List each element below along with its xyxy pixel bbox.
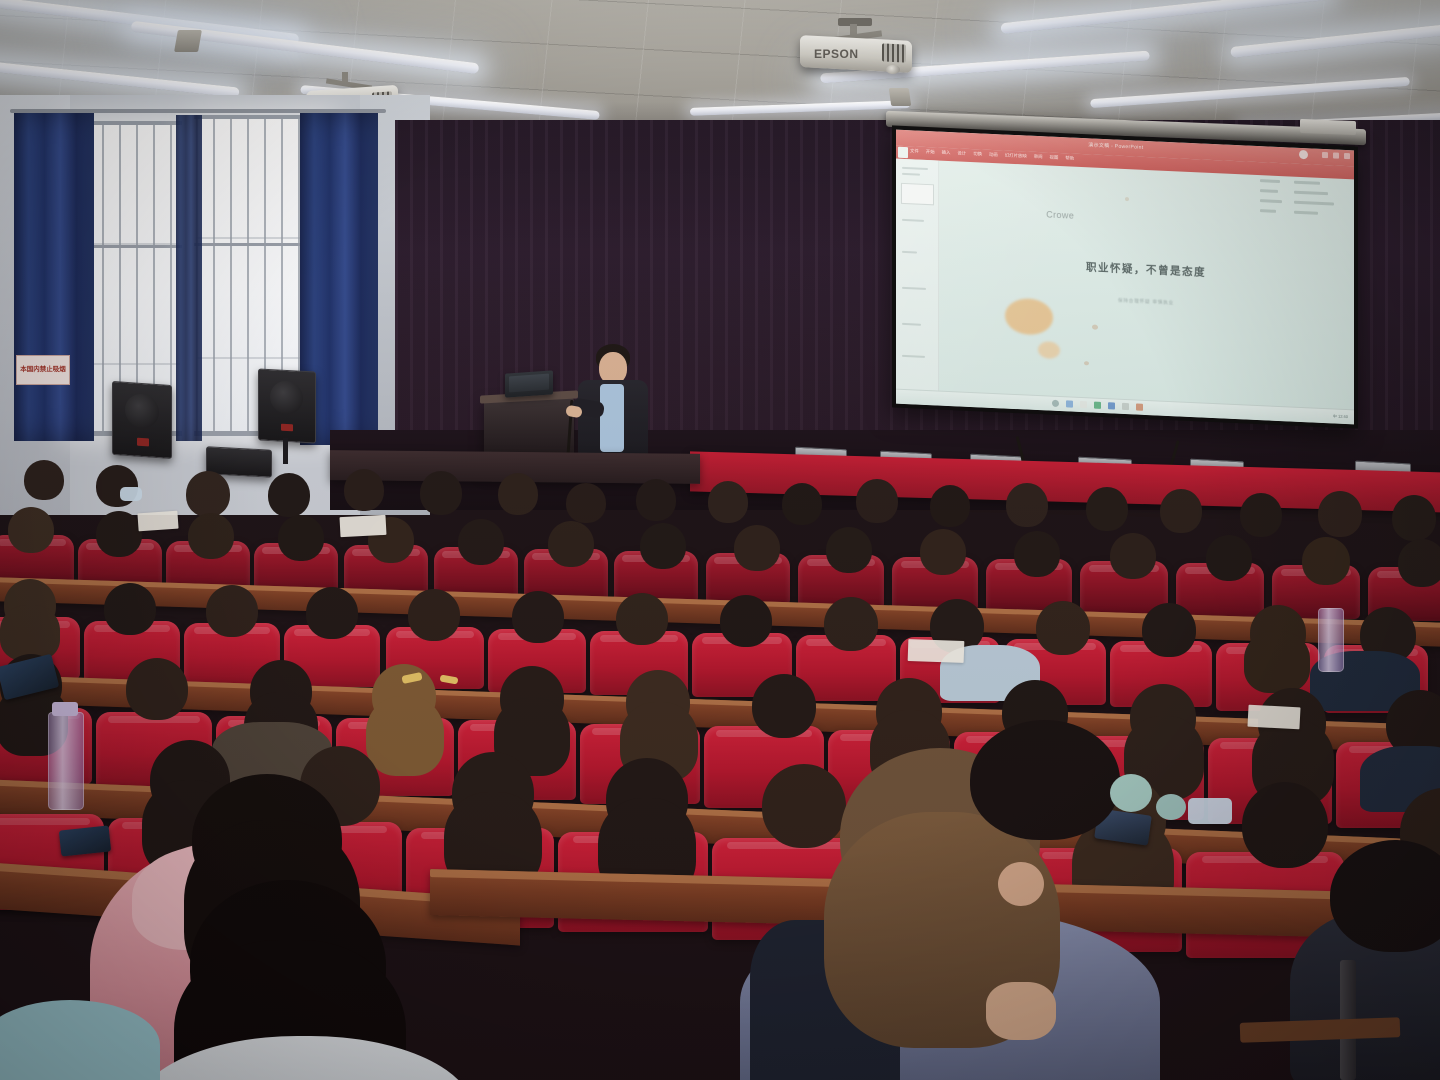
pane-line xyxy=(1260,199,1282,203)
person-head xyxy=(104,583,156,635)
person-head xyxy=(408,589,460,641)
water-bottle[interactable] xyxy=(1318,608,1344,672)
person-head xyxy=(1142,603,1196,657)
projection-screen: 演示文稿 - PowerPoint 文件 开始 插入 设计 切换 动画 幻灯片放… xyxy=(892,125,1358,428)
pane-line xyxy=(902,323,921,326)
ppt-tab-4[interactable]: 切换 xyxy=(973,151,982,157)
pane-line xyxy=(1294,211,1318,215)
foreground-person-right-edge xyxy=(1290,840,1440,1080)
slide-subtext: 保持合理怀疑 审慎执业 xyxy=(1118,298,1174,307)
ceiling-projector-epson: EPSON xyxy=(790,18,920,88)
person-head xyxy=(920,529,966,575)
person-head xyxy=(826,527,872,573)
notebook-paper xyxy=(340,515,387,537)
person-head xyxy=(640,523,686,569)
person-head xyxy=(96,511,142,557)
person-head xyxy=(1330,840,1440,952)
excel-icon[interactable] xyxy=(1094,402,1101,409)
person-head xyxy=(24,460,64,500)
person-head xyxy=(734,525,780,571)
wall-notice-sign: 本国内禁止吸烟 xyxy=(16,355,70,385)
taskbar-icon-group[interactable] xyxy=(1052,400,1143,411)
person-head xyxy=(616,593,668,645)
person-head xyxy=(306,587,358,639)
person-head xyxy=(720,595,772,647)
presenter-shirt xyxy=(600,384,624,452)
notebook-paper xyxy=(1247,705,1300,730)
curtain-rod xyxy=(10,109,386,113)
person-head xyxy=(970,720,1120,840)
slide-thumbnail[interactable] xyxy=(901,183,934,205)
person-head xyxy=(1014,531,1060,577)
explorer-icon[interactable] xyxy=(1080,401,1087,408)
ppt-tab-1[interactable]: 开始 xyxy=(926,149,935,155)
speaker-driver xyxy=(125,393,159,429)
pane-line xyxy=(902,287,926,290)
ppt-tab-9[interactable]: 帮助 xyxy=(1065,155,1074,161)
slide-decorative-dot xyxy=(1125,197,1129,201)
ppt-tab-8[interactable]: 视图 xyxy=(1050,155,1059,161)
pane-line xyxy=(902,355,925,358)
projector-brand-label: EPSON xyxy=(814,47,859,61)
bottle-cap xyxy=(52,702,78,716)
speaker-badge xyxy=(137,438,149,447)
speaker-driver xyxy=(270,380,303,415)
screen-roller-brand-cap xyxy=(1300,119,1356,135)
slide-decorative-blob xyxy=(1038,341,1060,359)
ppt-tab-3[interactable]: 设计 xyxy=(957,150,966,156)
foreground-person-right-back xyxy=(950,720,1210,920)
person-head xyxy=(188,513,234,559)
window-curtain-left xyxy=(14,111,94,441)
ppt-slide-thumbnail-pane[interactable] xyxy=(896,159,939,392)
lecture-hall-photo: EPSON 本国内禁 xyxy=(0,0,1440,1080)
person-head xyxy=(1036,601,1090,655)
pane-line xyxy=(902,251,917,254)
person-head xyxy=(206,585,258,637)
ppt-tab-5[interactable]: 动画 xyxy=(989,152,998,158)
presentation-laptop[interactable] xyxy=(505,370,553,397)
projector-exhaust-vent xyxy=(882,43,906,62)
notebook-paper xyxy=(137,511,178,532)
speaker-badge xyxy=(281,424,293,432)
minimize-icon[interactable] xyxy=(1322,152,1328,158)
hair-clip xyxy=(440,674,459,684)
ppt-tab-7[interactable]: 审阅 xyxy=(1034,154,1043,160)
person-head xyxy=(752,674,816,738)
ppt-account-avatar[interactable] xyxy=(1299,150,1308,159)
pane-line xyxy=(902,219,924,222)
app-icon[interactable] xyxy=(1122,403,1129,410)
notebook-paper xyxy=(908,639,965,663)
powerpoint-window[interactable]: 演示文稿 - PowerPoint 文件 开始 插入 设计 切换 动画 幻灯片放… xyxy=(896,130,1354,425)
ppt-file-tab[interactable] xyxy=(898,147,908,158)
foreground-person-front-left xyxy=(130,880,490,1080)
person-head xyxy=(512,591,564,643)
pane-line xyxy=(1260,179,1280,183)
slide-heading: 职业怀疑，不曾是态度 xyxy=(1086,260,1206,280)
person-head xyxy=(1110,533,1156,579)
slide-decorative-dot xyxy=(1092,325,1098,330)
person-hand xyxy=(986,982,1056,1040)
maximize-icon[interactable] xyxy=(1333,152,1339,158)
person-head xyxy=(458,519,504,565)
pane-line xyxy=(1294,191,1328,196)
close-icon[interactable] xyxy=(1344,153,1350,159)
pa-speaker-right xyxy=(258,368,316,443)
slide-decorative-blob xyxy=(1005,297,1053,335)
face-mask xyxy=(120,487,142,501)
pane-line xyxy=(1260,189,1278,193)
pane-line xyxy=(1260,209,1276,213)
laptop-screen xyxy=(509,374,549,393)
slide-decorative-dot xyxy=(1084,361,1089,365)
ppt-tab-2[interactable]: 插入 xyxy=(942,150,951,156)
powerpoint-icon[interactable] xyxy=(1136,403,1143,410)
pane-line xyxy=(1294,201,1334,206)
person-head xyxy=(278,515,324,561)
search-icon[interactable] xyxy=(1052,400,1059,407)
ppt-window-controls[interactable] xyxy=(1322,152,1350,159)
ppt-right-pane[interactable] xyxy=(1256,177,1352,227)
word-icon[interactable] xyxy=(1108,402,1115,409)
window-curtain-middle xyxy=(176,115,202,441)
edge-browser-icon[interactable] xyxy=(1066,400,1073,407)
pa-speaker-left xyxy=(112,381,172,459)
hair-scrunchie xyxy=(1110,774,1152,812)
taskbar-clock: 中 12:40 xyxy=(1333,413,1348,420)
ppt-tab-0[interactable]: 文件 xyxy=(910,148,919,154)
person-head xyxy=(548,521,594,567)
person-head xyxy=(8,507,54,553)
projector-lens xyxy=(886,65,900,74)
pane-line xyxy=(902,173,920,176)
person-head xyxy=(824,597,878,651)
ppt-tab-6[interactable]: 幻灯片放映 xyxy=(1005,153,1027,160)
pane-line xyxy=(1294,181,1320,185)
slide-logo-text: Crowe xyxy=(1046,209,1074,220)
pane-line xyxy=(902,167,928,170)
person-head xyxy=(126,658,188,720)
